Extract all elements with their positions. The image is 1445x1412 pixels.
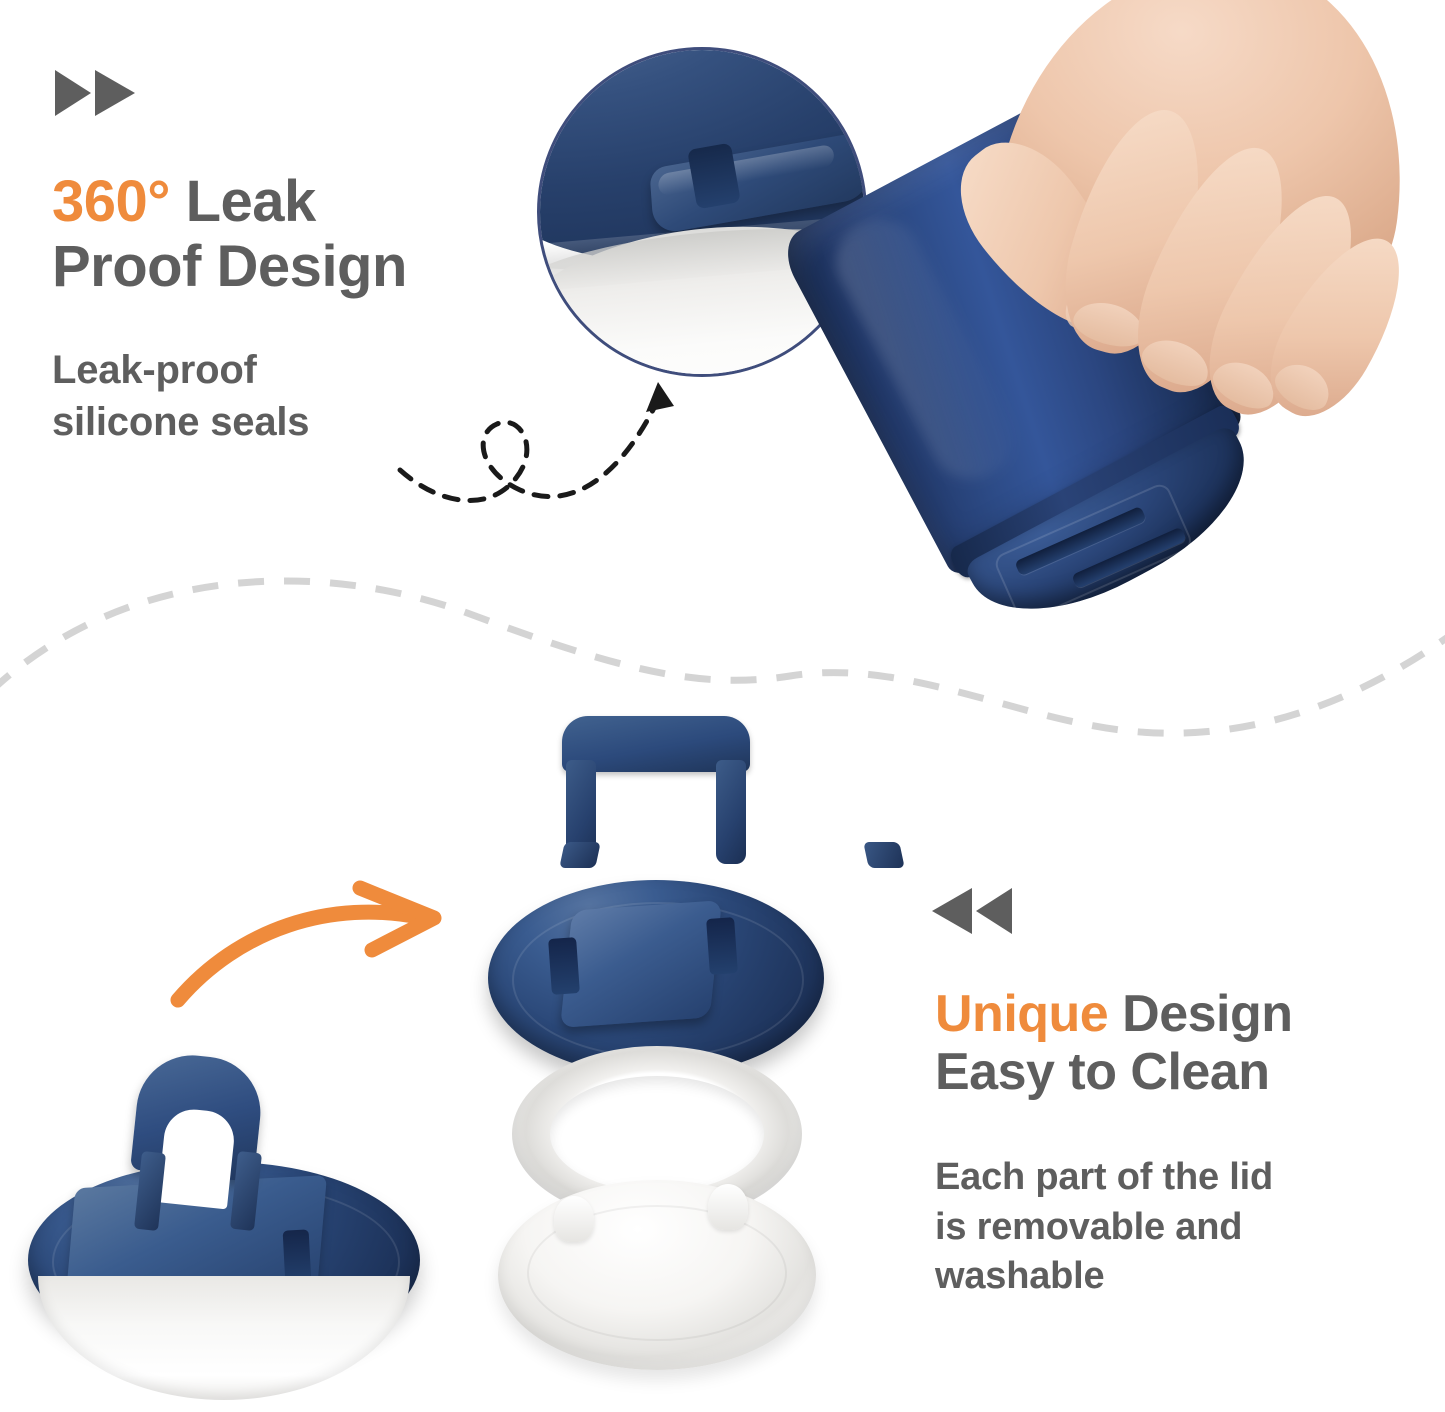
rewind-icon — [928, 886, 1012, 936]
fast-forward-icon — [55, 68, 139, 118]
subtext-line3: washable — [935, 1255, 1104, 1297]
headline-line2-easy-to-clean: Easy to Clean — [935, 1043, 1270, 1101]
unique-design-headline: Unique Design Easy to Clean — [935, 985, 1425, 1101]
headline-rest-design: Design — [1108, 985, 1292, 1043]
hand-holding-inverted-tumbler — [820, 0, 1445, 690]
headline-line2-proof-design: Proof Design — [52, 234, 407, 299]
headline-rest-leak: Leak — [170, 169, 316, 234]
headline-accent-unique: Unique — [935, 985, 1108, 1043]
exploded-lid-parts — [470, 710, 840, 1410]
lid-notch-left — [548, 937, 580, 995]
assembled-white-silicone-seal — [38, 1276, 410, 1400]
assembled-lid — [10, 1040, 430, 1412]
handle-bail-leg-left — [566, 760, 596, 864]
leak-proof-text-block: 360° Leak Proof Design Leak-proof silico… — [52, 170, 572, 448]
blue-handle-bail — [562, 716, 750, 856]
subtext-line1: Leak-proof — [52, 348, 257, 392]
lid-seal-closeup-callout — [537, 47, 867, 377]
blue-lid-flip-flap — [560, 900, 722, 1028]
subtext-line2: silicone seals — [52, 400, 309, 444]
unique-design-text-block: Unique Design Easy to Clean Each part of… — [935, 985, 1425, 1302]
little-nail — [1268, 355, 1337, 418]
handle-bail-hook-right — [863, 842, 905, 868]
handle-bail-leg-right — [716, 760, 746, 864]
white-base-gasket — [498, 1180, 816, 1370]
orange-curved-arrow-shaft — [178, 912, 424, 1000]
assembled-lid-handle — [136, 1056, 260, 1216]
orange-curved-arrow-head — [360, 888, 434, 950]
base-gasket-lug-right — [708, 1184, 748, 1230]
subtext-line2: is removable and — [935, 1206, 1242, 1248]
dashed-arrow-head — [646, 382, 674, 412]
handle-bail-hook-left — [559, 842, 601, 868]
unique-design-subtext: Each part of the lid is removable and wa… — [935, 1153, 1425, 1301]
leak-proof-headline: 360° Leak Proof Design — [52, 170, 572, 300]
lid-notch-right — [706, 917, 738, 975]
assembled-handle-opening — [157, 1107, 237, 1210]
headline-accent-360: 360° — [52, 169, 170, 234]
leak-proof-subtext: Leak-proof silicone seals — [52, 344, 572, 448]
base-gasket-lug-left — [554, 1196, 594, 1242]
subtext-line1: Each part of the lid — [935, 1156, 1273, 1198]
